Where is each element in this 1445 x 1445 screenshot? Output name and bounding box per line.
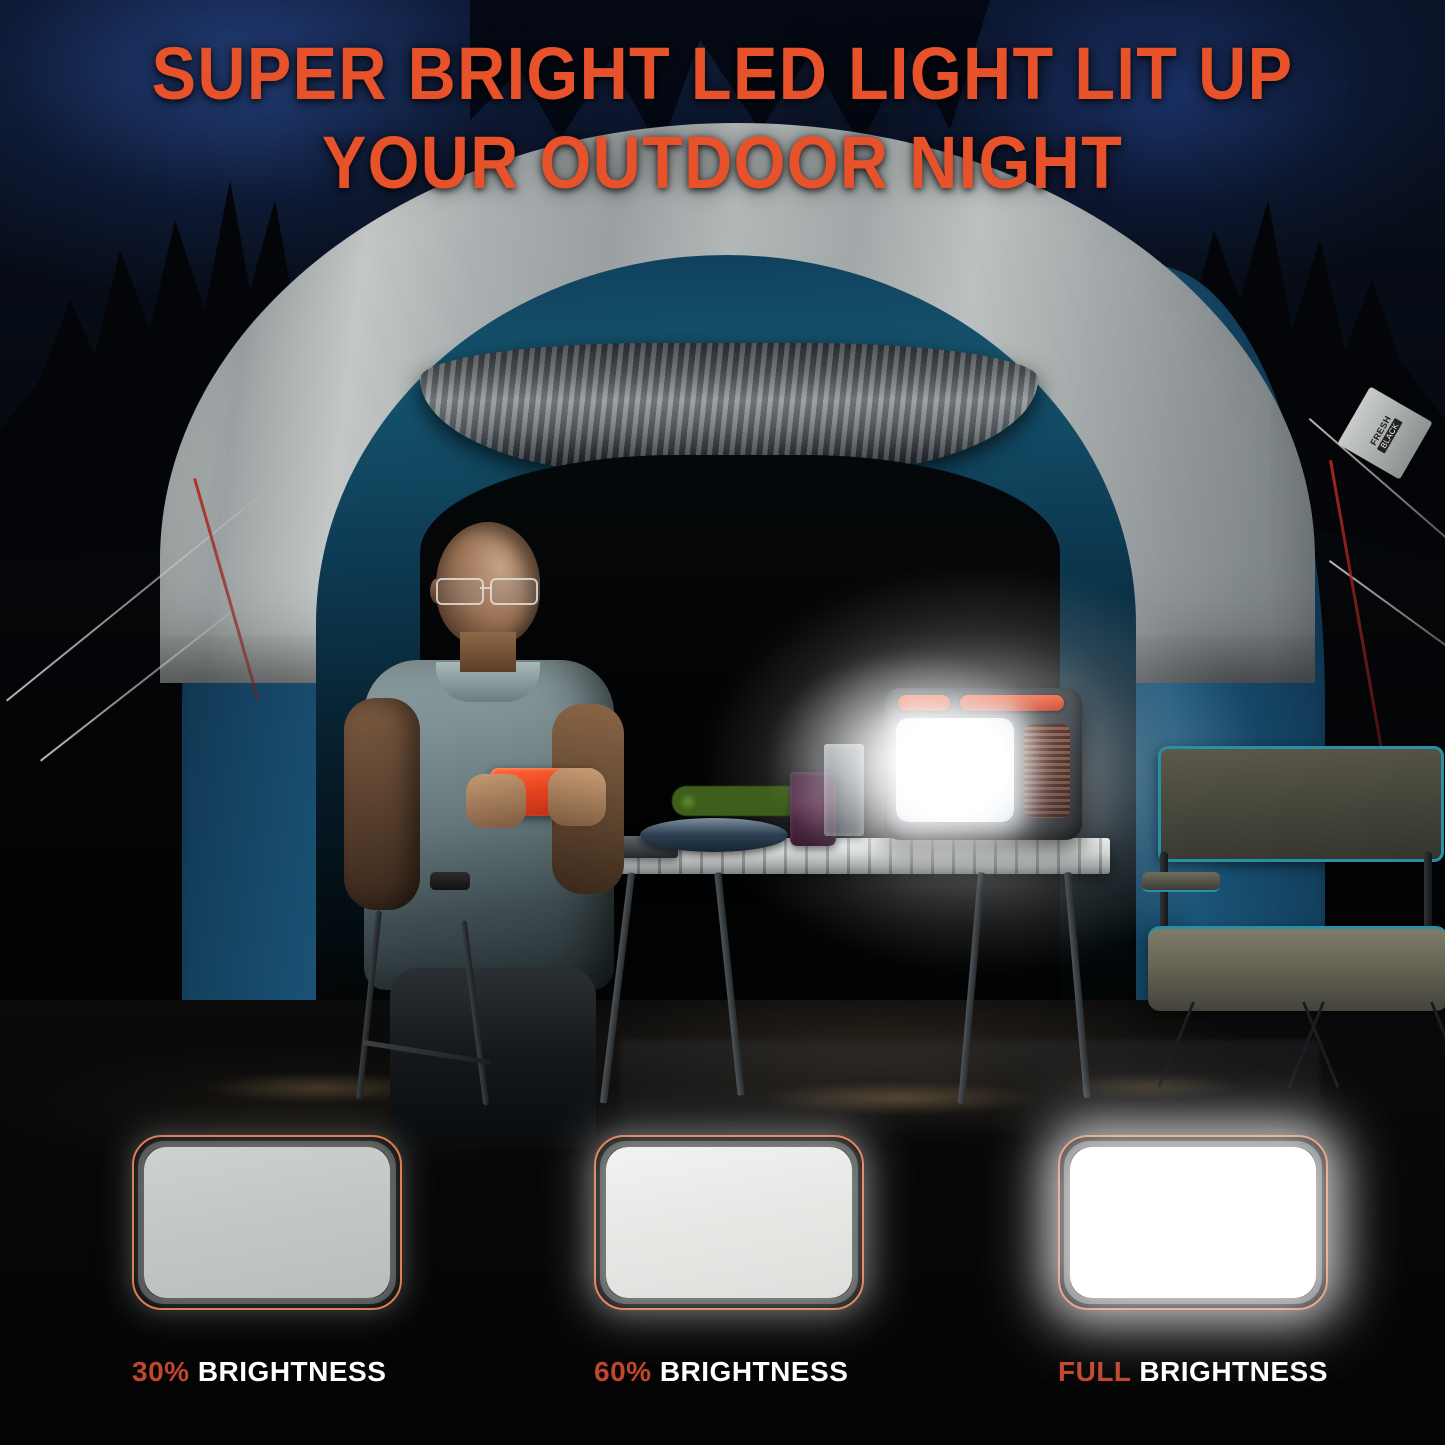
camp-chair-right	[1152, 740, 1442, 1090]
brightness-pct-60: 60%	[594, 1356, 652, 1387]
chair-left-frame-1	[356, 910, 382, 1100]
lantern-led-panel	[896, 718, 1014, 822]
brightness-pct-full: FULL	[1058, 1356, 1131, 1387]
brightness-swatch-30	[132, 1135, 402, 1310]
brightness-text-30: BRIGHTNESS	[198, 1356, 387, 1387]
person-hand-right	[548, 768, 606, 826]
chair-leg-brace-1	[1158, 1001, 1195, 1087]
brightness-label-60: 60% BRIGHTNESS	[594, 1356, 894, 1388]
table-leg-3	[958, 872, 985, 1104]
lantern-speaker-grille	[1024, 724, 1070, 818]
chair-post-left	[1160, 852, 1168, 936]
product-marketing-image: FRESH BLACK	[0, 0, 1445, 1445]
chair-seat	[1148, 926, 1445, 1011]
brightness-text-full: BRIGHTNESS	[1139, 1356, 1328, 1387]
wristwatch	[430, 872, 470, 890]
person-arm-left	[344, 698, 420, 910]
glasses-lens-right	[490, 578, 538, 605]
brightness-label-30: 30% BRIGHTNESS	[132, 1356, 432, 1388]
person-neck	[460, 632, 516, 672]
table-leg-4	[1064, 872, 1091, 1098]
brightness-pct-30: 30%	[132, 1356, 190, 1387]
brightness-level-30: 30% BRIGHTNESS	[132, 1135, 432, 1388]
brightness-label-full: FULL BRIGHTNESS	[1058, 1356, 1358, 1388]
lantern-accent-strip-left	[898, 695, 950, 711]
brightness-level-full: FULL BRIGHTNESS	[1058, 1135, 1358, 1388]
glasses-lens-left	[436, 578, 484, 605]
camp-table-legs	[600, 872, 1120, 1112]
chair-left-brace	[362, 1040, 491, 1065]
camp-chair-left	[352, 900, 572, 1130]
table-leg-2	[714, 872, 744, 1096]
chair-armrest	[1142, 872, 1220, 892]
eyeglasses-icon	[434, 578, 542, 602]
brightness-swatch-60	[594, 1135, 864, 1310]
lantern-accent-strip-right	[960, 695, 1064, 711]
person-hand-left	[466, 774, 526, 828]
swatch-light-30	[144, 1147, 390, 1298]
water-glass	[824, 744, 864, 836]
led-camping-lantern	[884, 688, 1082, 840]
brightness-comparison-row: 30% BRIGHTNESS 60% BRIGHTNESS FULL BRIGH…	[0, 1135, 1445, 1395]
brightness-swatch-full	[1058, 1135, 1328, 1310]
brightness-level-60: 60% BRIGHTNESS	[594, 1135, 894, 1388]
tent-vestibule-lip	[420, 343, 1038, 473]
chair-left-frame-2	[461, 920, 490, 1105]
swatch-light-full	[1070, 1147, 1316, 1298]
chair-backrest	[1158, 746, 1444, 862]
chair-post-right	[1424, 852, 1432, 936]
brightness-text-60: BRIGHTNESS	[660, 1356, 849, 1387]
swatch-light-60	[606, 1147, 852, 1298]
